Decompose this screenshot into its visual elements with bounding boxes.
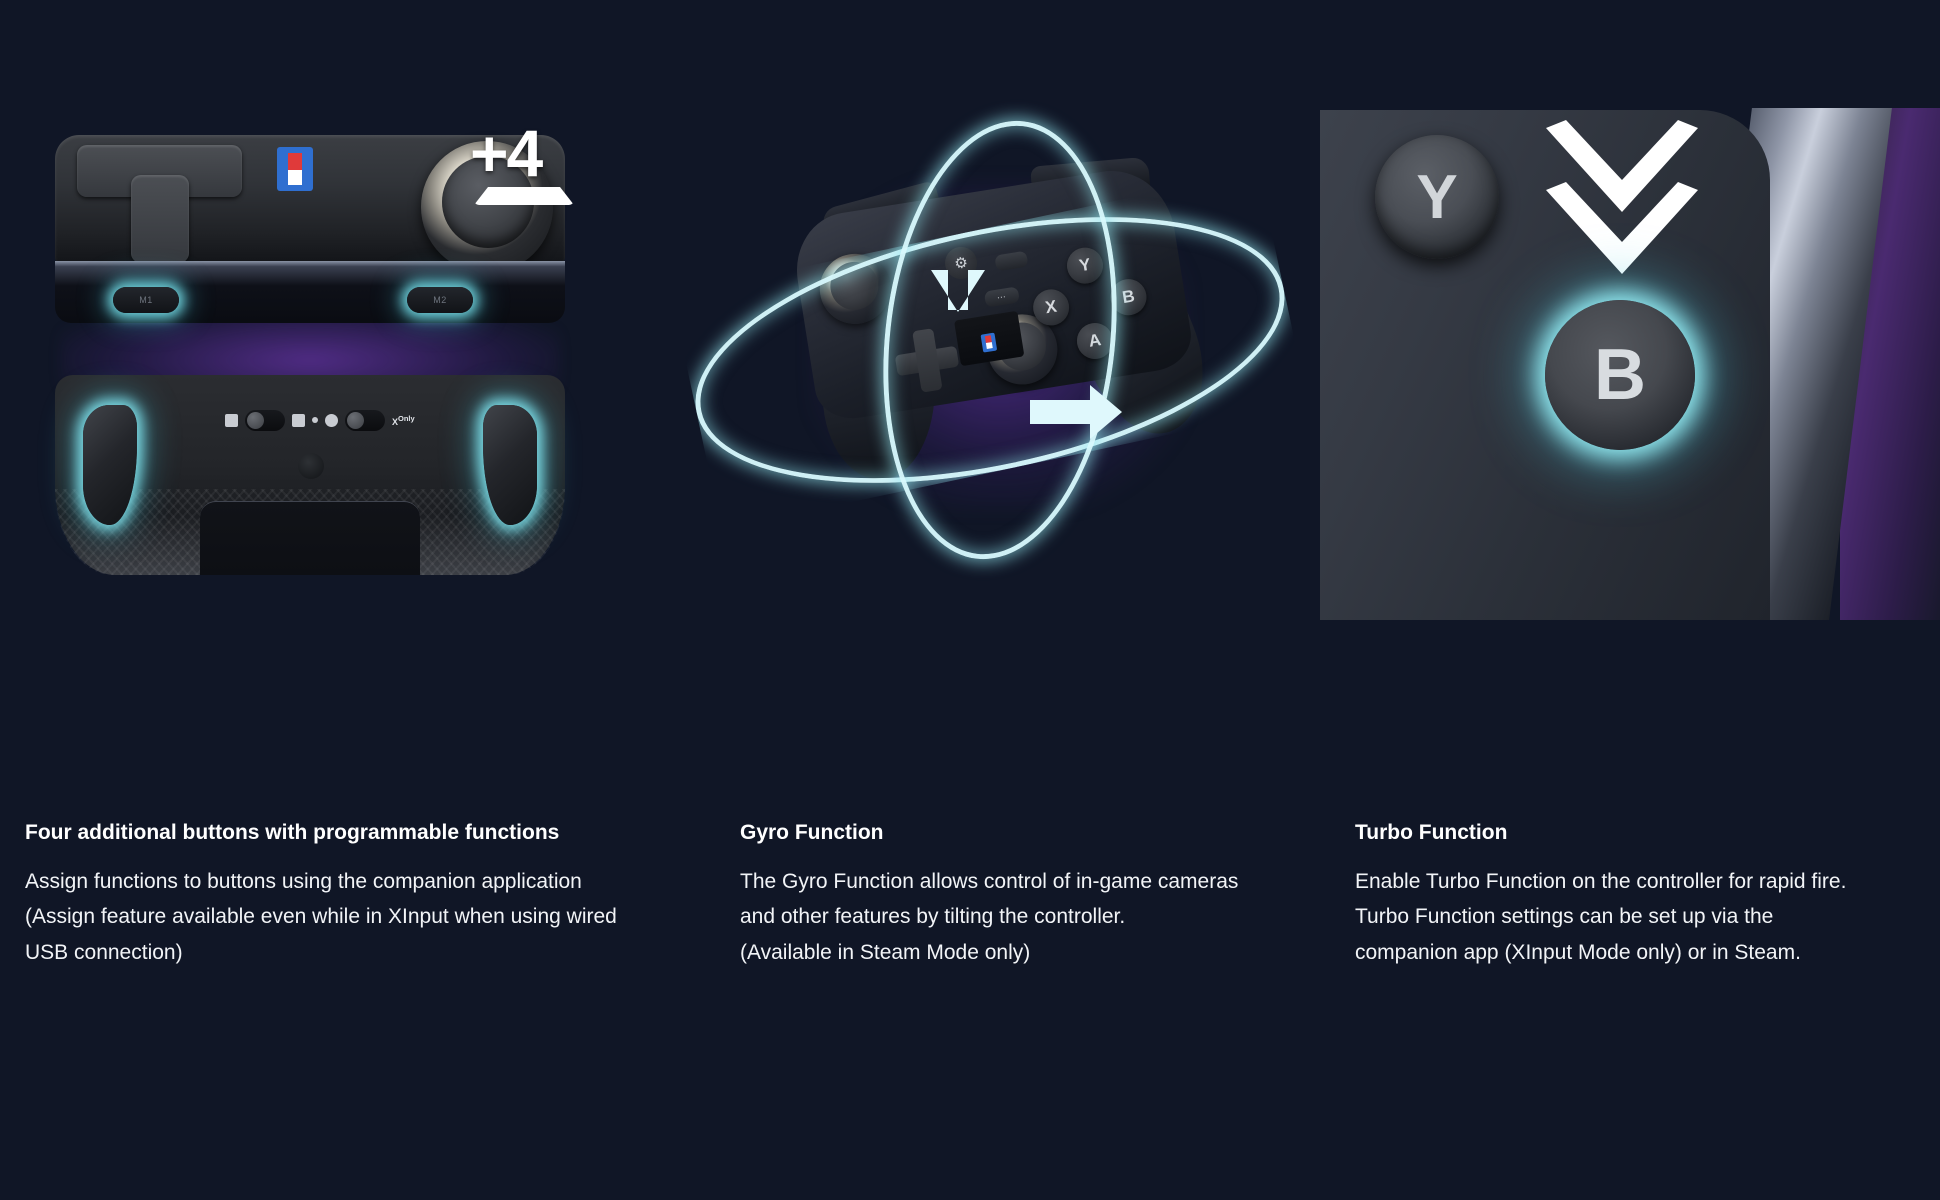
feature-description-line: Enable Turbo Function on the controller … bbox=[1355, 864, 1915, 899]
feature-description-line: and other features by tilting the contro… bbox=[740, 899, 1300, 934]
turbo-chevron-arrows bbox=[1542, 120, 1702, 320]
face-button-y: Y bbox=[1375, 135, 1499, 259]
controller-back-view: XOnly bbox=[55, 375, 565, 575]
xinput-only-label: XOnly bbox=[392, 414, 415, 427]
dpad-icon bbox=[77, 145, 242, 257]
feature-description-line: Assign functions to buttons using the co… bbox=[25, 864, 665, 899]
feature-text-gyro-function: Gyro Function The Gyro Function allows c… bbox=[740, 820, 1300, 970]
feature-highlight-page: M1 M2 bbox=[0, 0, 1940, 1200]
rear-button-strip: M1 M2 bbox=[55, 261, 565, 323]
feature-title: Gyro Function bbox=[740, 820, 1300, 845]
face-button-b-highlighted: B bbox=[1545, 300, 1695, 450]
m1-button: M1 bbox=[113, 287, 179, 313]
switch-label-icon-3 bbox=[325, 414, 338, 427]
feature-description-line: USB connection) bbox=[25, 935, 665, 970]
controller-top-face: M1 M2 bbox=[55, 135, 565, 315]
feature-image-programmable-buttons: M1 M2 bbox=[0, 0, 660, 720]
mode-switch-row: XOnly bbox=[225, 409, 415, 431]
feature-title: Turbo Function bbox=[1355, 820, 1915, 845]
controller-back-shell: XOnly bbox=[55, 375, 565, 575]
analog-stick bbox=[421, 141, 553, 273]
brand-logo-icon bbox=[277, 147, 313, 191]
m2-button: M2 bbox=[407, 287, 473, 313]
feature-description-line: (Assign feature available even while in … bbox=[25, 899, 665, 934]
feature-text-row: Four additional buttons with programmabl… bbox=[0, 820, 1940, 1080]
status-led bbox=[312, 417, 318, 423]
feature-description-line: companion app (XInput Mode only) or in S… bbox=[1355, 935, 1915, 970]
mode-toggle-1 bbox=[245, 410, 285, 431]
controller-shell bbox=[55, 135, 565, 265]
feature-description-line: The Gyro Function allows control of in-g… bbox=[740, 864, 1300, 899]
switch-label-icon-2 bbox=[292, 414, 305, 427]
back-notch bbox=[200, 501, 420, 575]
switch-label-icon-1 bbox=[225, 414, 238, 427]
feature-image-row: M1 M2 bbox=[0, 0, 1940, 720]
feature-title: Four additional buttons with programmabl… bbox=[25, 820, 665, 845]
feature-image-gyro-function: ⚙ ⋯ Y X B A bbox=[660, 0, 1320, 720]
feature-text-turbo-function: Turbo Function Enable Turbo Function on … bbox=[1355, 820, 1915, 970]
feature-text-programmable-buttons: Four additional buttons with programmabl… bbox=[25, 820, 665, 970]
feature-description-line: Turbo Function settings can be set up vi… bbox=[1355, 899, 1915, 934]
mode-toggle-2 bbox=[345, 410, 385, 431]
screw-hole bbox=[298, 453, 324, 479]
feature-image-turbo-function: Y B bbox=[1320, 0, 1940, 720]
feature-description-line: (Available in Steam Mode only) bbox=[740, 935, 1300, 970]
